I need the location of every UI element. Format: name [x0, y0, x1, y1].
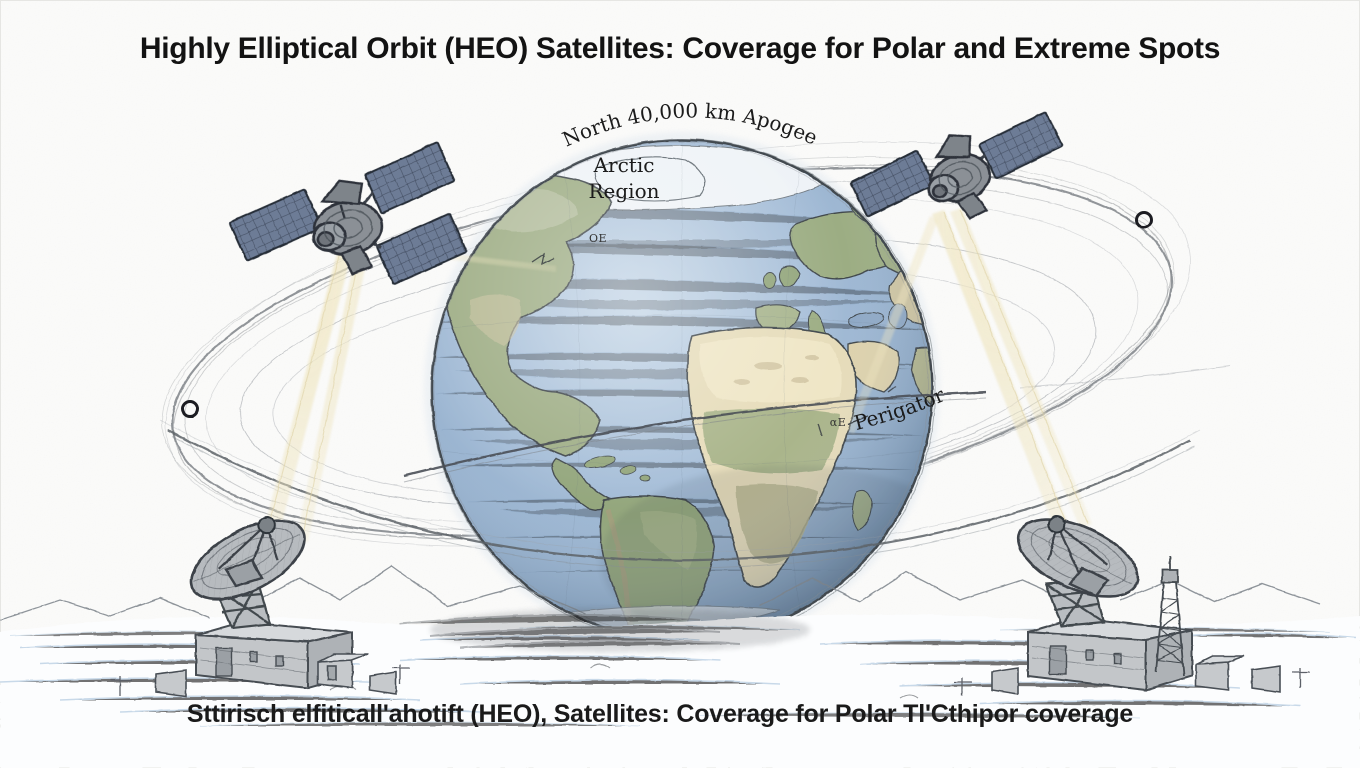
perigee-alpha-text: αE	[830, 416, 846, 429]
diagram-canvas: Highly Elliptical Orbit (HEO) Satellites…	[0, 0, 1360, 768]
page-title-text: Highly Elliptical Orbit (HEO) Satellites…	[140, 32, 1220, 65]
annotation-oe-marker: OE	[589, 232, 607, 245]
arctic-label-line2: Region	[588, 179, 659, 203]
page-title: Highly Elliptical Orbit (HEO) Satellites…	[140, 32, 1220, 65]
figure-caption-text: Sttirisch elfiticall'ahotift (HEO), Sate…	[187, 700, 1134, 728]
figure-caption: Sttirisch elfiticall'ahotift (HEO), Sate…	[187, 700, 1134, 728]
arctic-label-line1: Arctic	[593, 153, 655, 177]
oe-marker-text: OE	[589, 232, 607, 245]
